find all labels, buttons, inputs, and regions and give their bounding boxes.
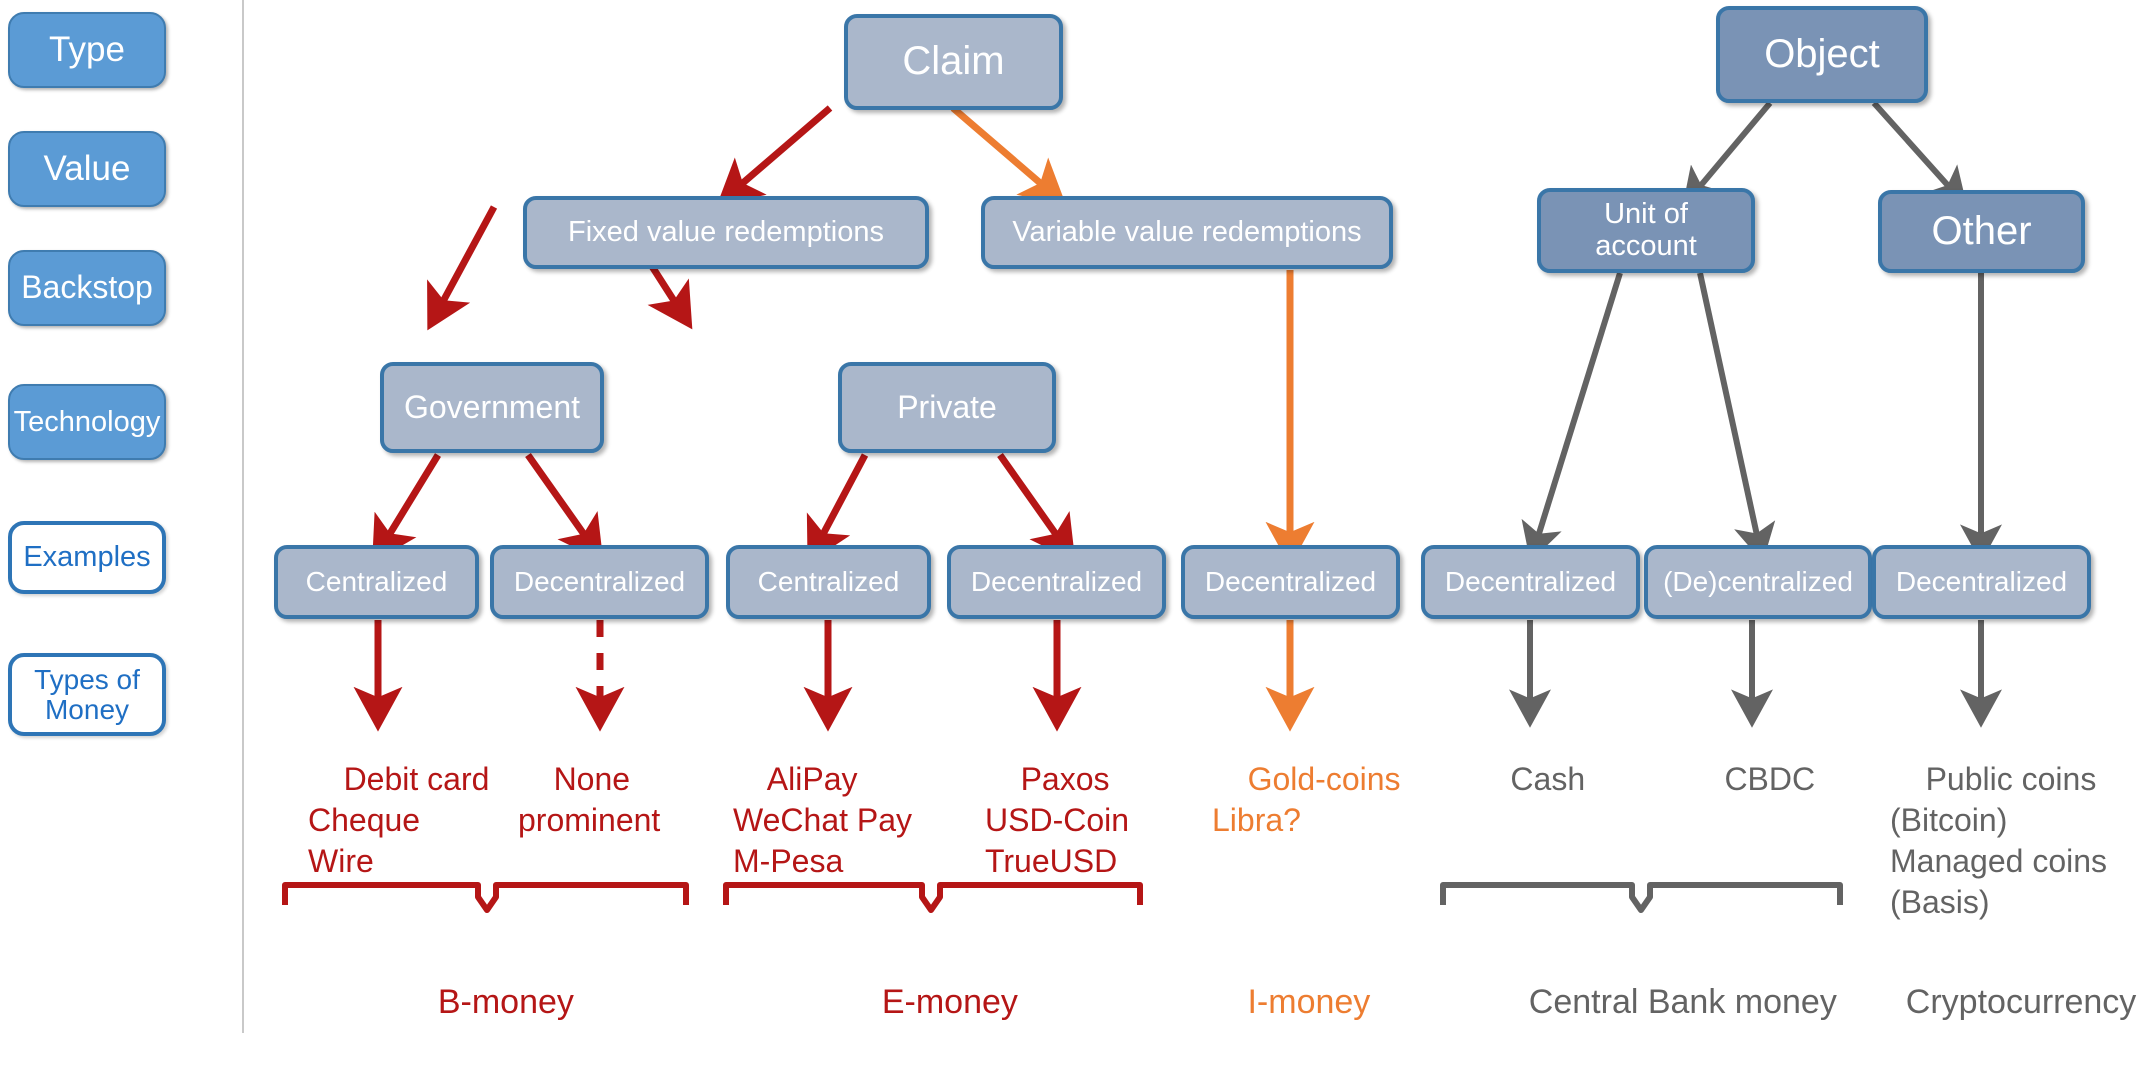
node-tech-e-decentralized[interactable]: Decentralized	[947, 545, 1166, 619]
node-label: Centralized	[306, 567, 448, 597]
example-text: Gold-coins Libra?	[1212, 761, 1401, 838]
node-fixed-value-redemptions[interactable]: Fixed value redemptions	[523, 196, 929, 269]
sidebar-item-types-of-money[interactable]: Types of Money	[8, 653, 166, 736]
edge-government-to-centralized	[386, 455, 438, 540]
example-text: AliPay WeChat Pay M-Pesa	[733, 761, 912, 879]
node-label: Other	[1931, 210, 2031, 253]
edge-fixed-to-government	[440, 207, 494, 307]
example-text: Debit card Cheque Wire	[308, 761, 489, 879]
node-other[interactable]: Other	[1878, 190, 2085, 273]
node-label: Claim	[902, 40, 1004, 83]
money-type-b-money: B-money	[387, 937, 587, 1068]
edge-object-to-other	[1874, 103, 1952, 190]
sidebar-item-value[interactable]: Value	[8, 131, 166, 207]
node-tech-i-decentralized[interactable]: Decentralized	[1181, 545, 1400, 619]
money-type-central-bank-money: Central Bank money	[1491, 937, 1791, 1068]
node-label: Private	[897, 390, 997, 425]
money-type-label: I-money	[1247, 983, 1370, 1021]
money-type-label: Cryptocurrency	[1906, 983, 2137, 1021]
edge-unit-to-decentralized	[1537, 273, 1620, 540]
example-cbdc: CBDC	[1682, 718, 1822, 841]
edge-private-to-centralized	[820, 455, 865, 540]
money-type-label: B-money	[438, 983, 574, 1021]
diagram-canvas: Type Value Backstop Technology Examples …	[0, 0, 2145, 1033]
example-b-centralized: Debit card Cheque Wire	[308, 718, 489, 923]
node-label: Object	[1764, 33, 1880, 76]
money-type-cryptocurrency: Cryptocurrency	[1868, 937, 2128, 1068]
brace-central-bank-money	[1443, 885, 1840, 910]
node-label: Decentralized	[971, 567, 1142, 597]
example-b-decentralized: None prominent	[518, 718, 660, 882]
sidebar-item-backstop[interactable]: Backstop	[8, 250, 166, 326]
node-tech-cash-decentralized[interactable]: Decentralized	[1421, 545, 1640, 619]
node-label: Decentralized	[1445, 567, 1616, 597]
edge-claim-to-variable	[953, 108, 1046, 188]
sidebar-item-label: Type	[49, 32, 125, 69]
node-label: Fixed value redemptions	[568, 217, 884, 248]
example-text: Cash	[1510, 761, 1585, 797]
sidebar-item-label: Backstop	[21, 271, 153, 305]
sidebar-item-examples[interactable]: Examples	[8, 521, 166, 594]
money-type-i-money: I-money	[1190, 937, 1390, 1068]
example-text: CBDC	[1724, 761, 1815, 797]
node-label: Variable value redemptions	[1012, 217, 1361, 248]
edge-claim-to-fixed	[737, 108, 830, 188]
example-cash: Cash	[1460, 718, 1600, 841]
edge-unit-to-de-centralized	[1700, 273, 1758, 540]
money-type-label: E-money	[882, 983, 1018, 1021]
edge-government-to-decentralized	[528, 455, 588, 540]
money-type-e-money: E-money	[831, 937, 1031, 1068]
node-tech-cbdc-de-centralized[interactable]: (De)centralized	[1644, 545, 1872, 619]
node-label: (De)centralized	[1663, 567, 1853, 597]
node-tech-b-centralized[interactable]: Centralized	[274, 545, 479, 619]
node-label: Unit of account	[1595, 199, 1697, 262]
node-variable-value-redemptions[interactable]: Variable value redemptions	[981, 196, 1393, 269]
node-government[interactable]: Government	[380, 362, 604, 453]
node-tech-b-decentralized[interactable]: Decentralized	[490, 545, 709, 619]
example-text: Paxos USD-Coin TrueUSD	[985, 761, 1129, 879]
node-label: Centralized	[758, 567, 900, 597]
sidebar-item-type[interactable]: Type	[8, 12, 166, 88]
sidebar-item-label: Technology	[14, 407, 161, 437]
node-object[interactable]: Object	[1716, 6, 1928, 103]
node-label: Decentralized	[514, 567, 685, 597]
example-cryptocurrency: Public coins (Bitcoin) Managed coins (Ba…	[1890, 718, 2107, 964]
node-private[interactable]: Private	[838, 362, 1056, 453]
node-unit-of-account[interactable]: Unit of account	[1537, 188, 1755, 273]
example-i-decentralized: Gold-coins Libra?	[1212, 718, 1401, 882]
node-label: Decentralized	[1205, 567, 1376, 597]
example-text: None prominent	[518, 761, 660, 838]
edge-private-to-decentralized	[1000, 455, 1060, 540]
sidebar-item-technology[interactable]: Technology	[8, 384, 166, 460]
sidebar-item-label: Types of Money	[34, 665, 140, 724]
node-claim[interactable]: Claim	[844, 14, 1063, 110]
sidebar-item-label: Value	[44, 151, 131, 188]
edge-object-to-unit-of-account	[1697, 103, 1770, 190]
node-tech-e-centralized[interactable]: Centralized	[726, 545, 931, 619]
example-e-centralized: AliPay WeChat Pay M-Pesa	[733, 718, 912, 923]
node-label: Decentralized	[1896, 567, 2067, 597]
example-text: Public coins (Bitcoin) Managed coins (Ba…	[1890, 761, 2107, 920]
sidebar-item-label: Examples	[23, 542, 150, 572]
example-e-decentralized: Paxos USD-Coin TrueUSD	[985, 718, 1129, 923]
node-tech-crypto-decentralized[interactable]: Decentralized	[1872, 545, 2091, 619]
node-label: Government	[404, 390, 580, 425]
money-type-label: Central Bank money	[1529, 983, 1837, 1021]
